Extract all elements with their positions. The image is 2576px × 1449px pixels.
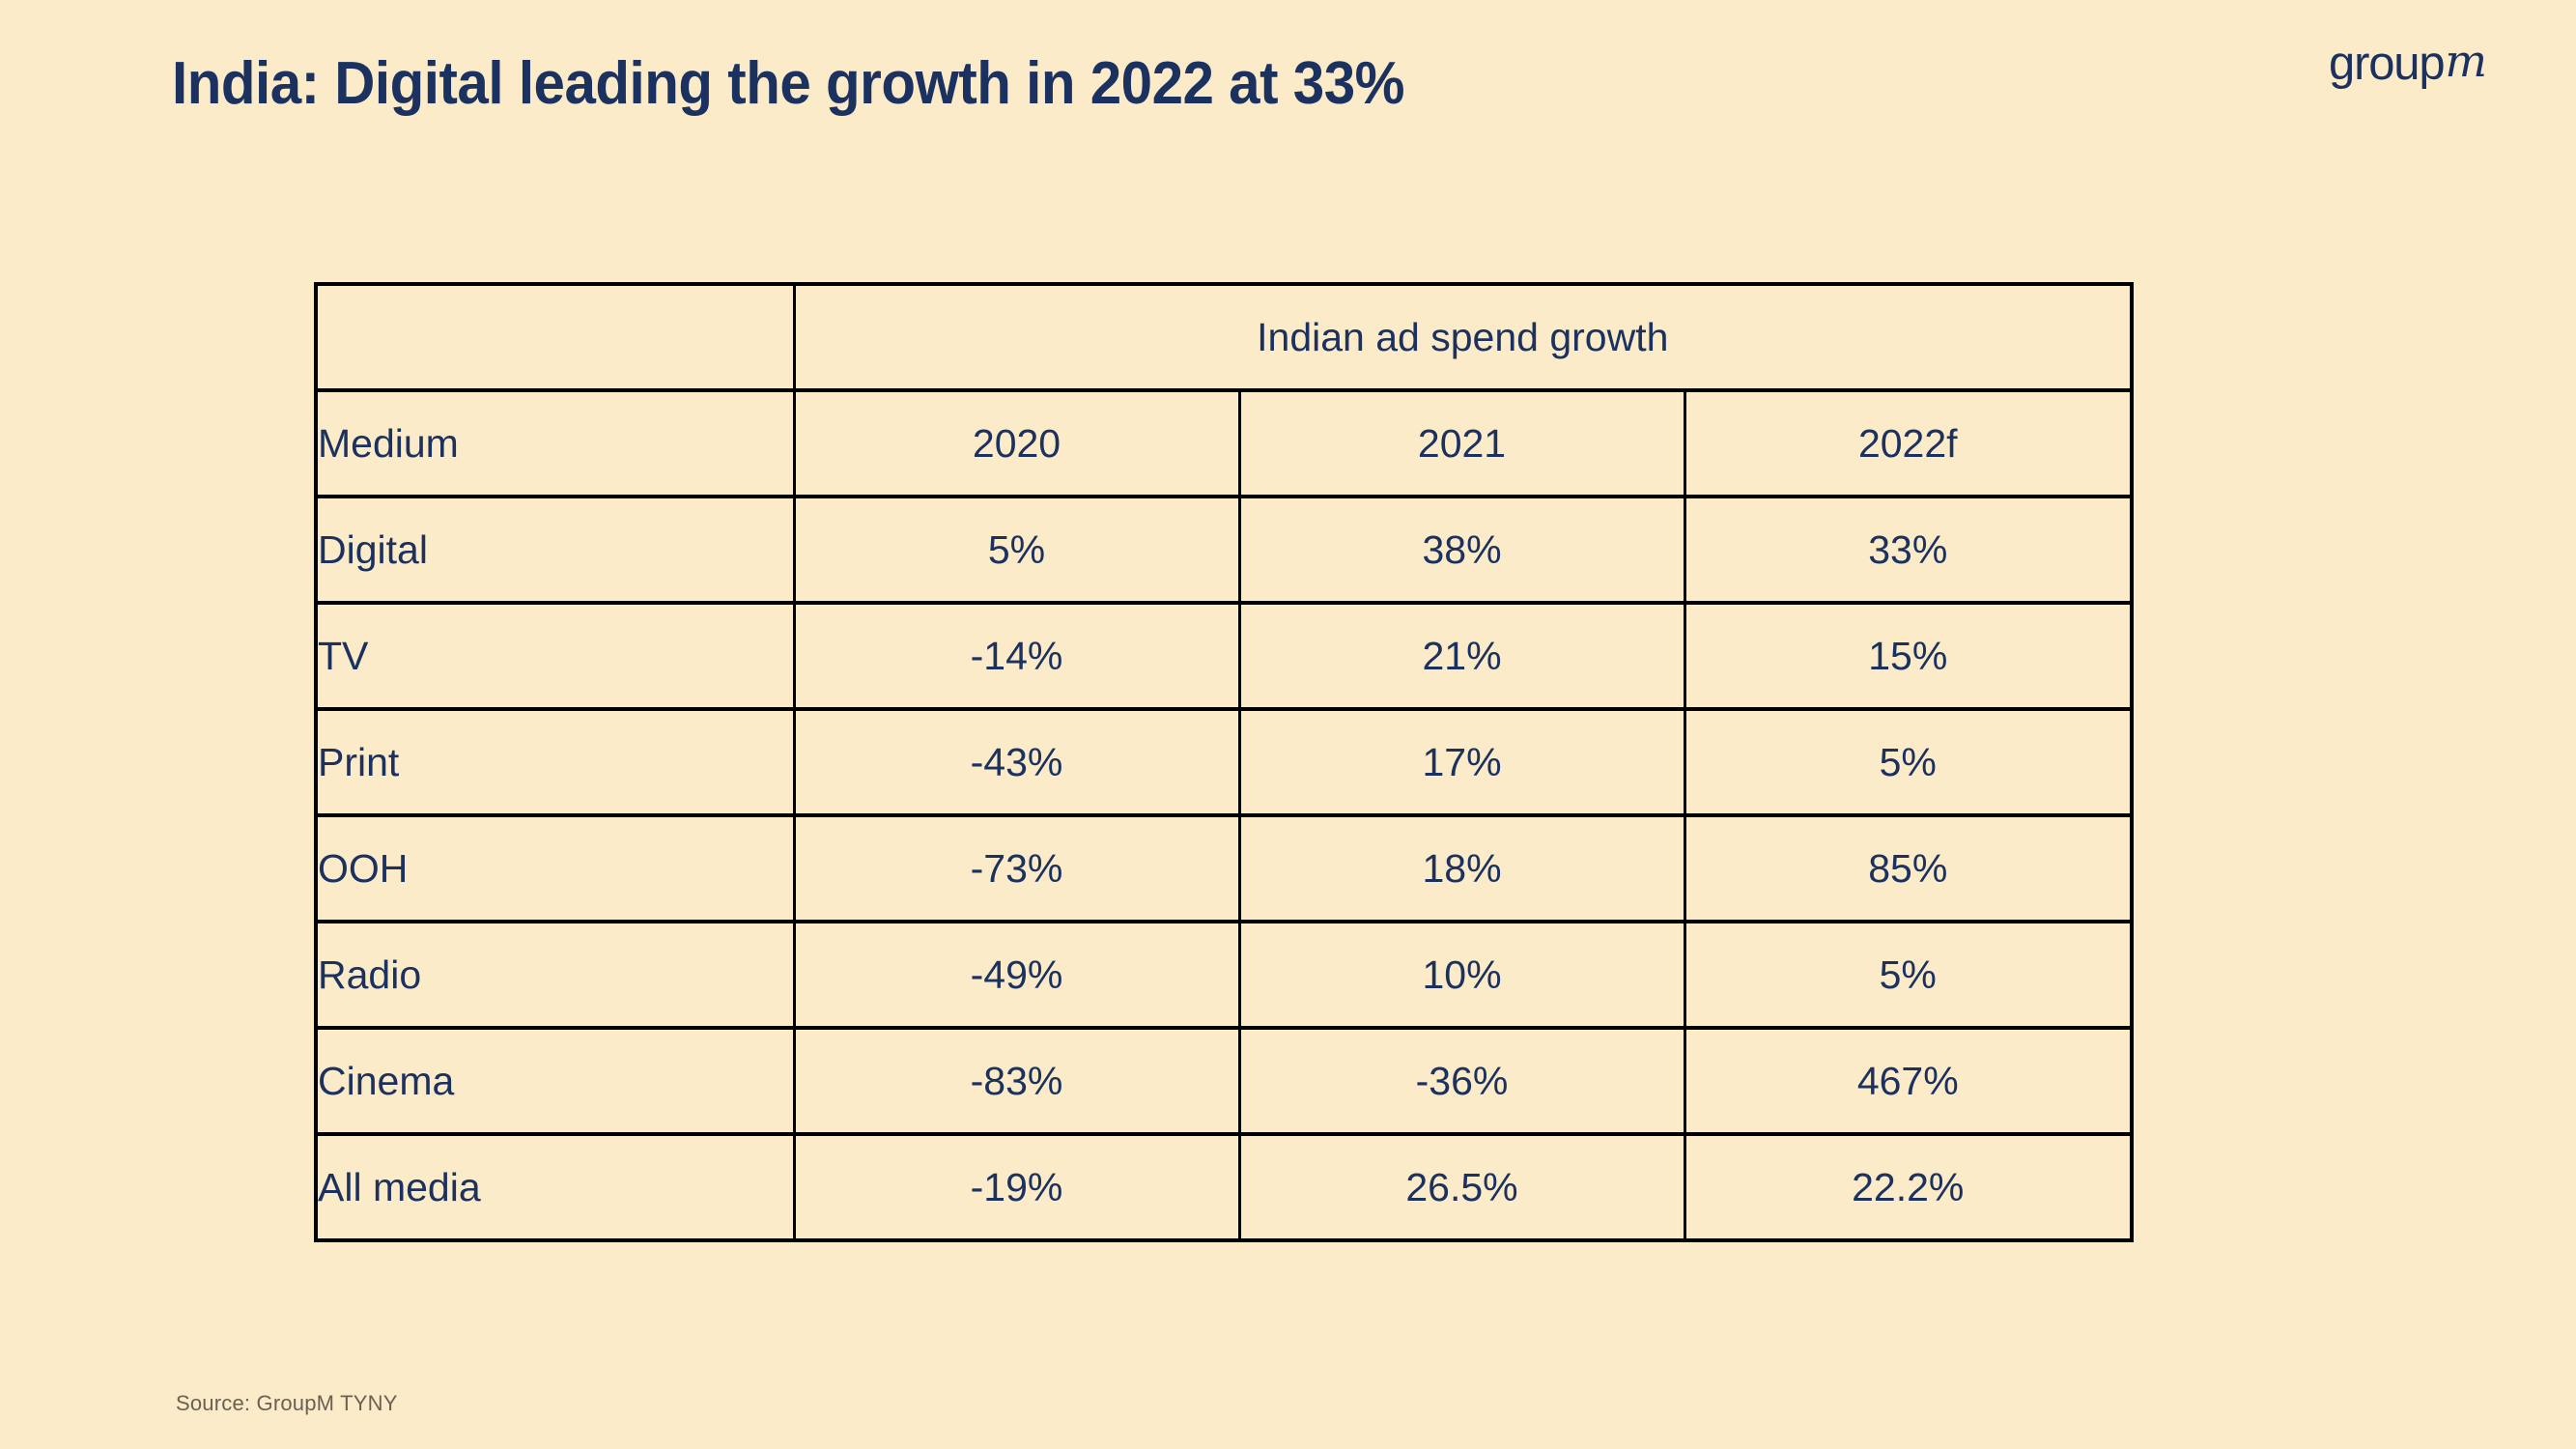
cell-2021: 26.5% [1239, 1134, 1684, 1240]
cell-2022f: 467% [1684, 1028, 2132, 1134]
cell-2021: -36% [1239, 1028, 1684, 1134]
cell-2022f: 5% [1684, 709, 2132, 815]
table-row: Cinema -83% -36% 467% [316, 1028, 2132, 1134]
cell-2022f: 5% [1684, 922, 2132, 1028]
cell-2021: 17% [1239, 709, 1684, 815]
table-row: OOH -73% 18% 85% [316, 815, 2132, 922]
table-row: Digital 5% 38% 33% [316, 497, 2132, 603]
cell-2020: -14% [794, 603, 1239, 709]
table-span-header-indian-ad-spend-growth: Indian ad spend growth [794, 284, 2132, 390]
cell-medium: OOH [316, 815, 794, 922]
column-header-2020: 2020 [794, 390, 1239, 497]
cell-medium: Cinema [316, 1028, 794, 1134]
ad-spend-table-container: Indian ad spend growth Medium 2020 2021 … [314, 282, 2130, 1242]
column-header-medium: Medium [316, 390, 794, 497]
groupm-logo-mark-icon: m [2445, 39, 2487, 83]
slide-canvas: India: Digital leading the growth in 202… [0, 0, 2576, 1449]
cell-2021: 21% [1239, 603, 1684, 709]
cell-medium: Digital [316, 497, 794, 603]
column-header-2022f: 2022f [1684, 390, 2132, 497]
table-corner-blank-cell [316, 284, 794, 390]
cell-2020: -83% [794, 1028, 1239, 1134]
ad-spend-growth-table: Indian ad spend growth Medium 2020 2021 … [314, 282, 2134, 1242]
table-row: All media -19% 26.5% 22.2% [316, 1134, 2132, 1240]
cell-2022f: 33% [1684, 497, 2132, 603]
cell-2021: 10% [1239, 922, 1684, 1028]
cell-medium: TV [316, 603, 794, 709]
table-row-column-headers: Medium 2020 2021 2022f [316, 390, 2132, 497]
table-row: TV -14% 21% 15% [316, 603, 2132, 709]
column-header-2021: 2021 [1239, 390, 1684, 497]
cell-2022f: 15% [1684, 603, 2132, 709]
cell-2020: -49% [794, 922, 1239, 1028]
cell-2022f: 22.2% [1684, 1134, 2132, 1240]
cell-2022f: 85% [1684, 815, 2132, 922]
cell-2020: -19% [794, 1134, 1239, 1240]
table-row: Radio -49% 10% 5% [316, 922, 2132, 1028]
page-title: India: Digital leading the growth in 202… [172, 46, 1404, 122]
cell-medium: Radio [316, 922, 794, 1028]
groupm-logo: groupm [2329, 41, 2487, 88]
groupm-logo-word: group [2329, 41, 2444, 88]
source-note: Source: GroupM TYNY [176, 1391, 398, 1416]
cell-medium: All media [316, 1134, 794, 1240]
cell-2020: -43% [794, 709, 1239, 815]
cell-medium: Print [316, 709, 794, 815]
cell-2020: 5% [794, 497, 1239, 603]
cell-2020: -73% [794, 815, 1239, 922]
table-row: Print -43% 17% 5% [316, 709, 2132, 815]
cell-2021: 38% [1239, 497, 1684, 603]
cell-2021: 18% [1239, 815, 1684, 922]
table-row-span-header: Indian ad spend growth [316, 284, 2132, 390]
